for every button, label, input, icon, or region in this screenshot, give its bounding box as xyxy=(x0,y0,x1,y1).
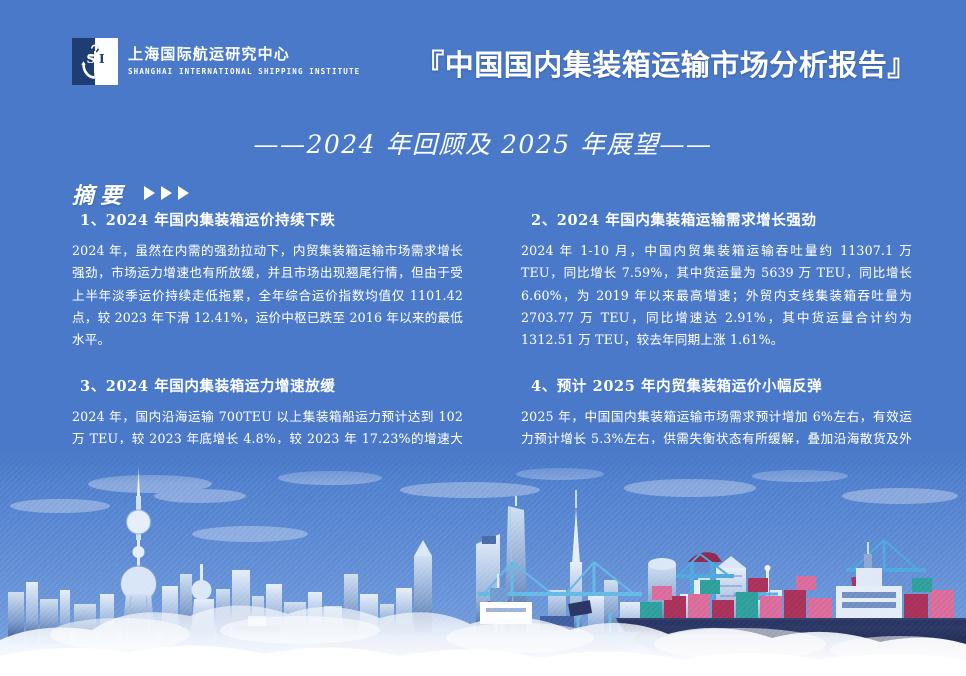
shanghai-skyline-port-illustration xyxy=(0,444,966,676)
organization-name-block: 上海国际航运研究中心 SHANGHAI INTERNATIONAL SHIPPI… xyxy=(128,47,360,76)
svg-text:I: I xyxy=(99,52,105,66)
abstract-arrows xyxy=(144,186,189,202)
section-heading: 1、2024 年国内集装箱运价持续下跌 xyxy=(80,212,463,231)
section-body: 2024 年，虽然在内需的强劲拉动下，内贸集装箱运输市场需求增长强劲，市场运力增… xyxy=(72,240,463,352)
report-subtitle: ——2024 年回顾及 2025 年展望—— xyxy=(253,125,712,161)
section-heading: 2、2024 年国内集装箱运输需求增长强劲 xyxy=(531,212,912,231)
abstract-label: 摘要 xyxy=(72,178,128,210)
svg-text:S: S xyxy=(87,52,96,66)
org-name-cn: 上海国际航运研究中心 xyxy=(128,47,360,62)
section-body: 2024 年 1-10 月，中国内贸集装箱运输吞吐量约 11307.1 万 TE… xyxy=(521,240,912,352)
summary-section-1: 1、2024 年国内集装箱运价持续下跌 2024 年，虽然在内需的强劲拉动下，内… xyxy=(72,212,463,352)
subtitle-row: ——2024 年回顾及 2025 年展望—— xyxy=(0,125,966,161)
page-header: S I 上海国际航运研究中心 SHANGHAI INTERNATIONAL SH… xyxy=(0,0,966,110)
summary-section-2: 2、2024 年国内集装箱运输需求增长强劲 2024 年 1-10 月，中国内贸… xyxy=(521,212,912,352)
sisi-anchor-logo-icon: S I xyxy=(72,38,118,85)
triangle-right-icon xyxy=(161,186,172,200)
triangle-right-icon xyxy=(178,186,189,200)
org-name-en: SHANGHAI INTERNATIONAL SHIPPING INSTITUT… xyxy=(128,68,360,76)
organization-logo-block: S I 上海国际航运研究中心 SHANGHAI INTERNATIONAL SH… xyxy=(72,38,360,85)
abstract-header: 摘要 xyxy=(72,178,189,210)
section-heading: 4、预计 2025 年内贸集装箱运价小幅反弹 xyxy=(531,378,912,397)
section-heading: 3、2024 年国内集装箱运力增速放缓 xyxy=(80,378,463,397)
triangle-right-icon xyxy=(144,186,155,200)
report-cover-page: S I 上海国际航运研究中心 SHANGHAI INTERNATIONAL SH… xyxy=(0,0,966,676)
page-title: 『中国国内集装箱运输市场分析报告』 xyxy=(386,42,946,84)
